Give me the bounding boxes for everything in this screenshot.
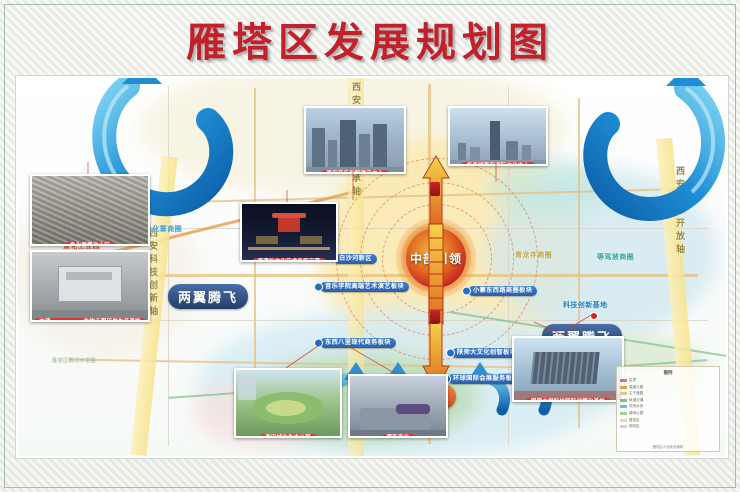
chip-dongxi-bali[interactable]: 东西八里现代商务板块: [320, 338, 396, 348]
chip-dengjiapo[interactable]: 等驾坡商圈: [592, 252, 639, 263]
photo-image: [32, 176, 148, 244]
legend-title: 图例: [620, 370, 716, 376]
photo-oct-culture-center[interactable]: 华侨城西安国际文化中心: [448, 106, 548, 166]
legend-label: 高速公路: [629, 385, 643, 390]
legend-row: 区界: [620, 378, 716, 383]
photo-image: [514, 338, 622, 400]
axis-node-top: [430, 182, 440, 196]
chip-shaanshida[interactable]: 陕师大文化创智板块: [452, 348, 521, 358]
banner-wings-west[interactable]: 两翼腾飞: [168, 284, 248, 309]
photo-caption: 中建западные生物工程研发生产基地: [33, 318, 146, 322]
legend-row: 轨道交通: [620, 398, 716, 403]
legend-swatch: [620, 419, 627, 422]
legend-label: 建成区: [629, 418, 640, 423]
tech-base-pin: [590, 312, 598, 320]
map-legend: 图例 区界 高速公路 主干道路 轨道交通 河流水系 绿地公园 建成区 规划区 雁…: [616, 366, 720, 452]
chip-tech-base[interactable]: 科技创新基地: [558, 300, 612, 311]
photo-image: [236, 370, 340, 436]
photo-image: [306, 108, 404, 172]
legend-footer: 雁塔区人民政府编制: [617, 444, 719, 449]
photo-eco-park[interactable]: 西安城市生态公园: [234, 368, 342, 438]
legend-swatch: [620, 405, 627, 408]
photo-new-district[interactable]: 雁新商业: [348, 374, 448, 438]
photo-caption: 唐遗址文化艺术名街示范: [252, 258, 327, 262]
legend-row: 规划区: [620, 424, 716, 429]
photo-yuhua-village[interactable]: 鱼化寨棚改小区: [30, 174, 150, 246]
legend-row: 主干道路: [620, 391, 716, 396]
photo-image: [242, 204, 336, 260]
legend-swatch: [620, 379, 627, 382]
legend-swatch: [620, 392, 627, 395]
legend-label: 绿地公园: [629, 411, 643, 416]
chip-qinglongsi[interactable]: 青龙寺商圈: [510, 250, 557, 261]
legend-label: 区界: [629, 378, 636, 383]
photo-biotech-base[interactable]: 中建западные生物工程研发生产基地: [30, 250, 150, 322]
legend-row: 建成区: [620, 418, 716, 423]
ribbon-arrow-east: [558, 78, 728, 268]
axis-node-bottom: [430, 310, 440, 324]
chip-xiaozhai[interactable]: 小寨东西路商圈板块: [468, 286, 537, 296]
photo-caption: 雁新商业: [381, 434, 416, 438]
chip-baisha[interactable]: 白沙河新区: [334, 254, 377, 264]
photo-caption: 西安音乐学院演艺中心: [321, 170, 390, 174]
map-canvas[interactable]: 西安古都文化传承轴 西安科技创新轴 西安国际开放轴 中部引领: [16, 76, 728, 458]
title-bar: 雁塔区发展规划图: [0, 8, 740, 70]
legend-swatch: [620, 399, 627, 402]
legend-row: 高速公路: [620, 385, 716, 390]
legend-label: 规划区: [629, 424, 640, 429]
photo-university-tech-park[interactable]: 国家大学科技园科创孵化基地: [512, 336, 624, 402]
legend-swatch: [620, 425, 627, 428]
photo-image: [450, 108, 546, 164]
photo-caption: 鱼化寨棚改小区: [64, 242, 116, 246]
photo-caption: 国家大学科技园科创孵化基地: [525, 398, 611, 402]
photo-xian-music-center[interactable]: 西安音乐学院演艺中心: [304, 106, 406, 174]
legend-row: 河流水系: [620, 404, 716, 409]
legend-label: 主干道路: [629, 391, 643, 396]
photo-tangcheng-arts[interactable]: 唐遗址文化艺术名街示范: [240, 202, 338, 262]
legend-label: 河流水系: [629, 404, 643, 409]
inset-caption: 雁塔区概况示意图: [52, 357, 96, 364]
chip-music-academy[interactable]: 音乐学院高端艺术演艺板块: [320, 282, 409, 292]
photo-caption: 华侨城西安国际文化中心: [461, 162, 536, 166]
legend-swatch: [620, 412, 627, 415]
legend-label: 轨道交通: [629, 398, 643, 403]
poster-root: 雁塔区发展规划图 西安古都文化传承轴 西安科: [0, 0, 740, 492]
photo-image: [350, 376, 446, 436]
legend-swatch: [620, 386, 627, 389]
photo-image: [32, 252, 148, 320]
page-title: 雁塔区发展规划图: [186, 10, 554, 68]
photo-caption: 西安城市生态公园: [259, 434, 317, 438]
legend-row: 绿地公园: [620, 411, 716, 416]
